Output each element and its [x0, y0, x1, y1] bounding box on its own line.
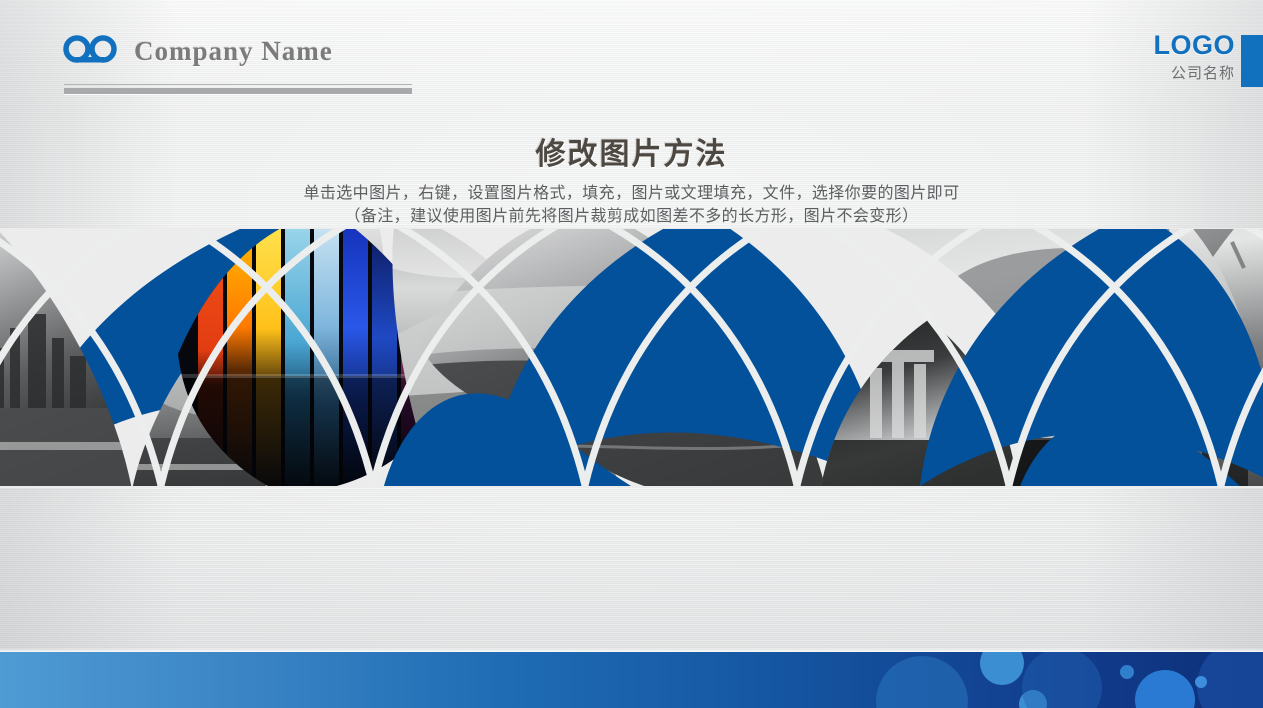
- footer-bar: [0, 652, 1263, 708]
- band-weave: [0, 228, 1263, 488]
- company-name: Company Name: [134, 36, 333, 67]
- subtitle-line-1: 单击选中图片，右键，设置图片格式，填充，图片或文理填充，文件，选择你要的图片即可: [0, 181, 1263, 204]
- logo-subtitle: 公司名称: [1154, 66, 1236, 81]
- title-block: 修改图片方法 单击选中图片，右键，设置图片格式，填充，图片或文理填充，文件，选择…: [0, 138, 1263, 227]
- logo-accent-bar: [1241, 35, 1263, 87]
- footer-bubbles: [0, 652, 1263, 708]
- logo-text-stack: LOGO 公司名称: [1154, 32, 1242, 81]
- header-rule-thick: [64, 88, 412, 94]
- image-band: [0, 228, 1263, 488]
- subtitle-line-2: （备注，建议使用图片前先将图片裁剪成如图差不多的长方形，图片不会变形）: [0, 204, 1263, 227]
- header-rule-thin: [64, 84, 412, 85]
- logo-word: LOGO: [1154, 32, 1236, 59]
- double-ring-logo-icon: [62, 34, 120, 68]
- slide-canvas: Company Name LOGO 公司名称 修改图片方法 单击选中图片，右键，…: [0, 0, 1263, 708]
- header-logo-block: LOGO 公司名称: [1154, 32, 1263, 87]
- page-title: 修改图片方法: [0, 138, 1263, 171]
- header-brand: Company Name: [62, 34, 333, 68]
